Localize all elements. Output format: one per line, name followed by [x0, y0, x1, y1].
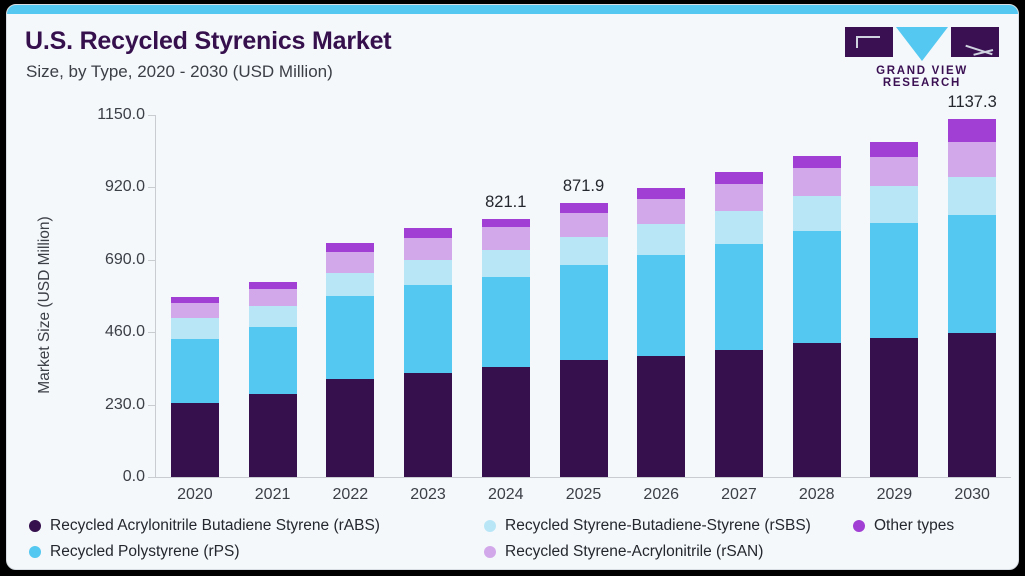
- bar-stack[interactable]: [482, 219, 530, 477]
- bar-segment-rABS[interactable]: [870, 338, 918, 477]
- plot-area: 821.1871.91137.3: [156, 115, 1011, 477]
- bar-segment-rABS[interactable]: [948, 333, 996, 477]
- bar-stack[interactable]: [637, 188, 685, 477]
- bar-segment-rSBS[interactable]: [715, 211, 763, 244]
- bar-segment-rSAN[interactable]: [948, 142, 996, 177]
- bar-total-label: 1137.3: [902, 93, 1019, 112]
- bar-segment-rSAN[interactable]: [793, 168, 841, 196]
- logo-marks: [842, 27, 1002, 59]
- bar-segment-rABS[interactable]: [482, 367, 530, 477]
- bar-segment-rSBS[interactable]: [404, 260, 452, 285]
- bar-segment-rSBS[interactable]: [560, 237, 608, 266]
- bar-segment-rSBS[interactable]: [637, 224, 685, 255]
- bar-total-label: 871.9: [514, 177, 654, 196]
- bar-group[interactable]: [948, 115, 996, 477]
- bar-segment-rPS[interactable]: [249, 327, 297, 394]
- legend-label: Recycled Styrene-Acrylonitrile (rSAN): [505, 543, 763, 561]
- grand-view-research-logo: GRAND VIEW RESEARCH: [842, 27, 1002, 79]
- bar-segment-rABS[interactable]: [715, 350, 763, 477]
- bar-segment-rABS[interactable]: [793, 343, 841, 477]
- bar-segment-other[interactable]: [870, 142, 918, 156]
- legend-color-swatch-icon: [853, 520, 865, 532]
- bar-segment-rSBS[interactable]: [948, 177, 996, 215]
- chart-card: U.S. Recycled Styrenics Market Size, by …: [6, 4, 1019, 570]
- y-axis-tick-label: 1150.0: [97, 106, 145, 124]
- logo-triangle-icon: [896, 27, 948, 61]
- bar-segment-other[interactable]: [715, 172, 763, 184]
- bar-segment-rPS[interactable]: [171, 339, 219, 403]
- bar-group[interactable]: [171, 115, 219, 477]
- legend-item[interactable]: Other types: [853, 517, 954, 535]
- legend-color-swatch-icon: [484, 546, 496, 558]
- legend-color-swatch-icon: [484, 520, 496, 532]
- bar-segment-rABS[interactable]: [249, 394, 297, 477]
- bar-segment-rABS[interactable]: [637, 356, 685, 477]
- accent-top-bar: [7, 5, 1018, 14]
- bar-segment-rABS[interactable]: [560, 360, 608, 477]
- bar-segment-other[interactable]: [482, 219, 530, 228]
- bar-group[interactable]: [482, 115, 530, 477]
- bar-segment-other[interactable]: [948, 119, 996, 142]
- bar-segment-other[interactable]: [560, 203, 608, 213]
- y-axis-tick-mark: [148, 115, 155, 116]
- bar-segment-rPS[interactable]: [715, 244, 763, 350]
- bar-segment-rSAN[interactable]: [870, 157, 918, 187]
- bar-group[interactable]: [560, 115, 608, 477]
- y-axis-tick-mark: [148, 187, 155, 188]
- bar-segment-rPS[interactable]: [793, 231, 841, 343]
- bar-stack[interactable]: [715, 172, 763, 477]
- bar-segment-rABS[interactable]: [326, 379, 374, 477]
- legend-color-swatch-icon: [29, 520, 41, 532]
- bar-group[interactable]: [793, 115, 841, 477]
- bar-stack[interactable]: [404, 228, 452, 477]
- bar-stack[interactable]: [560, 203, 608, 477]
- y-axis-tick-mark: [148, 405, 155, 406]
- y-axis-tick-label: 920.0: [105, 178, 145, 196]
- legend-item[interactable]: Recycled Polystyrene (rPS): [29, 543, 240, 561]
- bar-segment-rPS[interactable]: [404, 285, 452, 373]
- y-axis-tick-label: 460.0: [105, 323, 145, 341]
- bar-segment-rSAN[interactable]: [171, 303, 219, 318]
- y-axis-tick-mark: [148, 477, 155, 478]
- bar-stack[interactable]: [948, 119, 996, 477]
- bar-group[interactable]: [637, 115, 685, 477]
- bar-segment-rPS[interactable]: [560, 265, 608, 359]
- bar-segment-rSAN[interactable]: [404, 238, 452, 260]
- bar-stack[interactable]: [171, 297, 219, 477]
- x-axis-line: [155, 477, 1011, 478]
- bar-group[interactable]: [870, 115, 918, 477]
- legend-item[interactable]: Recycled Styrene-Acrylonitrile (rSAN): [484, 543, 763, 561]
- bar-stack[interactable]: [249, 282, 297, 477]
- bar-segment-rPS[interactable]: [482, 277, 530, 367]
- bar-segment-other[interactable]: [249, 282, 297, 289]
- bar-segment-rPS[interactable]: [637, 255, 685, 356]
- y-axis-tick-label: 230.0: [105, 396, 145, 414]
- logo-left-box-icon: [845, 27, 893, 57]
- bar-segment-rSAN[interactable]: [715, 184, 763, 210]
- bar-segment-rSBS[interactable]: [482, 250, 530, 277]
- legend-item[interactable]: Recycled Styrene-Butadiene-Styrene (rSBS…: [484, 517, 811, 535]
- bar-segment-rSBS[interactable]: [793, 196, 841, 231]
- legend-label: Recycled Acrylonitrile Butadiene Styrene…: [50, 517, 380, 535]
- bar-segment-other[interactable]: [171, 297, 219, 304]
- legend-label: Recycled Styrene-Butadiene-Styrene (rSBS…: [505, 517, 811, 535]
- bar-segment-rSBS[interactable]: [249, 306, 297, 327]
- bar-group[interactable]: [715, 115, 763, 477]
- y-axis-title: Market Size (USD Million): [36, 155, 54, 455]
- bar-stack[interactable]: [326, 243, 374, 477]
- bar-segment-other[interactable]: [404, 228, 452, 238]
- legend-color-swatch-icon: [29, 546, 41, 558]
- bar-segment-other[interactable]: [793, 156, 841, 169]
- y-axis-tick-label: 690.0: [105, 251, 145, 269]
- bar-segment-rPS[interactable]: [948, 215, 996, 333]
- bar-segment-rPS[interactable]: [870, 223, 918, 337]
- logo-wordmark: GRAND VIEW RESEARCH: [842, 65, 1002, 89]
- legend-label: Other types: [874, 517, 954, 535]
- logo-right-box-icon: [951, 27, 999, 57]
- chart-legend: Recycled Acrylonitrile Butadiene Styrene…: [29, 517, 1004, 565]
- bar-group[interactable]: [249, 115, 297, 477]
- bar-segment-other[interactable]: [637, 188, 685, 199]
- y-axis-labels: 0.0230.0460.0690.0920.01150.0: [7, 5, 145, 570]
- bar-segment-rABS[interactable]: [171, 403, 219, 477]
- y-axis-tick-mark: [148, 332, 155, 333]
- bar-segment-rPS[interactable]: [326, 296, 374, 379]
- bar-segment-rSBS[interactable]: [870, 186, 918, 223]
- x-axis-tick-label: 2030: [917, 486, 1019, 504]
- bar-segment-rSAN[interactable]: [249, 289, 297, 306]
- bar-stack[interactable]: [793, 156, 841, 477]
- bar-segment-rSAN[interactable]: [326, 252, 374, 273]
- bar-group[interactable]: [404, 115, 452, 477]
- bar-segment-rSAN[interactable]: [637, 199, 685, 224]
- y-axis-tick-mark: [148, 260, 155, 261]
- bar-segment-rSAN[interactable]: [560, 213, 608, 237]
- bar-segment-other[interactable]: [326, 243, 374, 252]
- bar-segment-rABS[interactable]: [404, 373, 452, 477]
- bar-segment-rSBS[interactable]: [326, 273, 374, 296]
- y-axis-tick-label: 0.0: [123, 468, 145, 486]
- legend-item[interactable]: Recycled Acrylonitrile Butadiene Styrene…: [29, 517, 380, 535]
- bar-segment-rSAN[interactable]: [482, 227, 530, 250]
- legend-label: Recycled Polystyrene (rPS): [50, 543, 240, 561]
- bar-stack[interactable]: [870, 142, 918, 477]
- bar-segment-rSBS[interactable]: [171, 318, 219, 338]
- bar-group[interactable]: [326, 115, 374, 477]
